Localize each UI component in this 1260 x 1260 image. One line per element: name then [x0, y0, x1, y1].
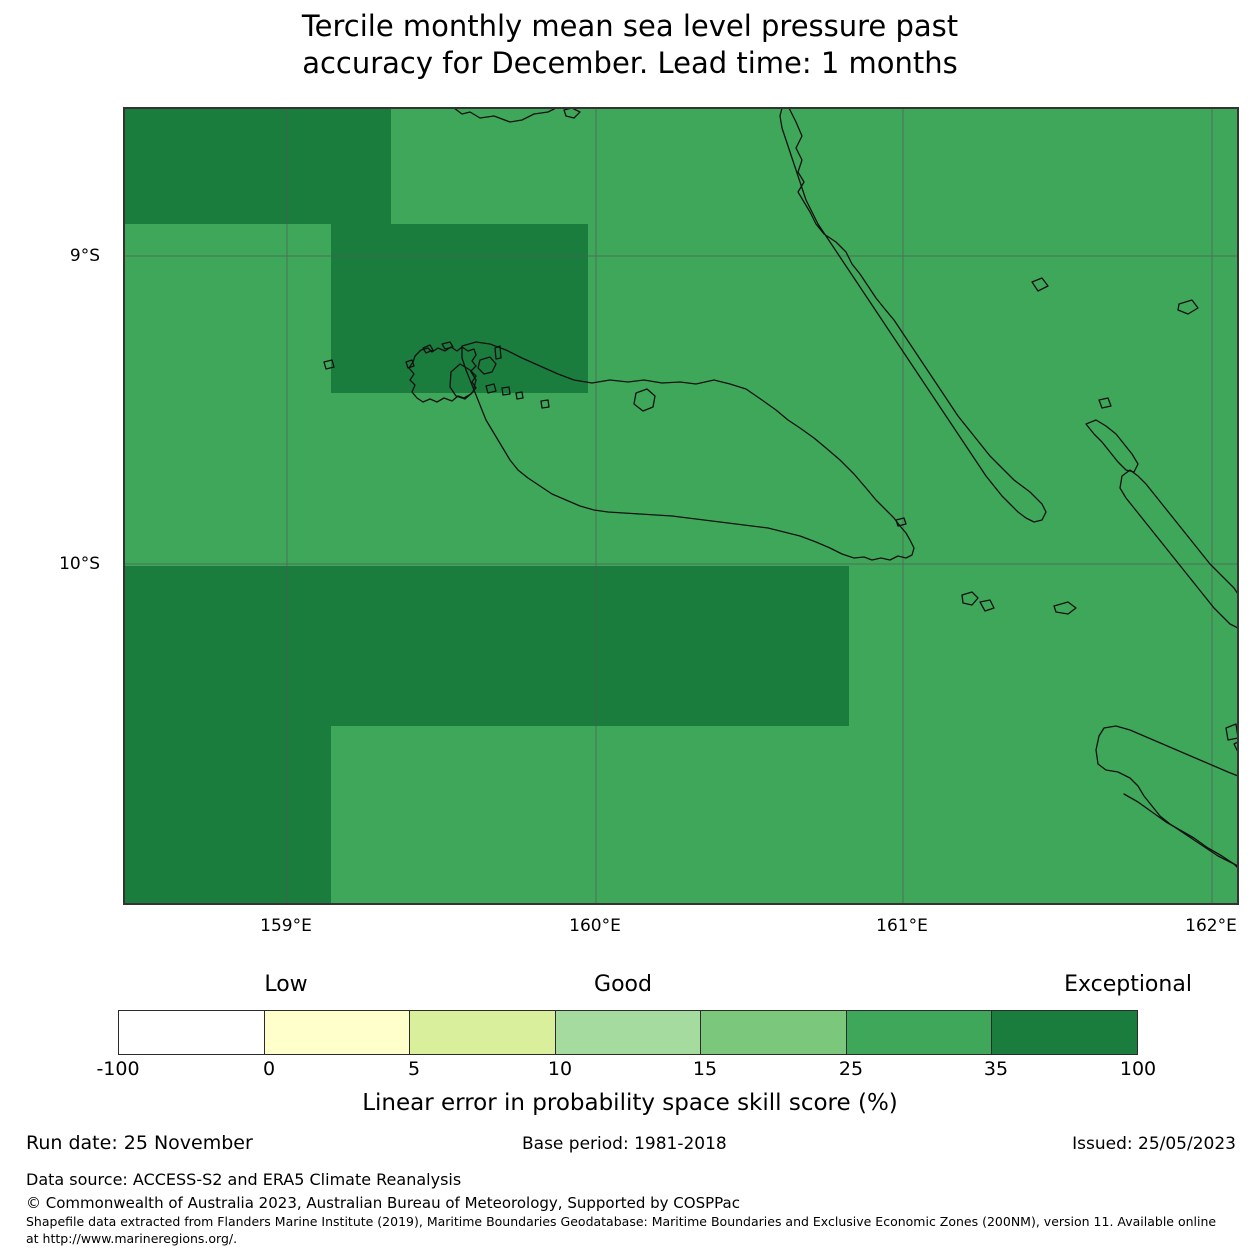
cell-dark-topleft — [124, 108, 331, 224]
colorbar-segment-1 — [265, 1011, 411, 1054]
colorbar-tick-3: 10 — [510, 1058, 610, 1080]
map-plot-area[interactable] — [123, 107, 1239, 905]
colorbar-tick-6: 35 — [946, 1058, 1046, 1080]
colorbar-tick-4: 15 — [655, 1058, 755, 1080]
cell-dark-lower-left — [124, 566, 331, 904]
colorbar-category-low: Low — [176, 972, 396, 997]
ytick-9S: 9°S — [20, 246, 100, 266]
colorbar-tick-1: 0 — [219, 1058, 319, 1080]
xtick-159E: 159°E — [226, 916, 346, 936]
colorbar-segment-2 — [410, 1011, 556, 1054]
cell-dark-central — [331, 224, 588, 393]
colorbar-section: Low Good Exceptional -100 0 5 10 15 25 3… — [0, 960, 1260, 1095]
colorbar-segment-3 — [556, 1011, 702, 1054]
cell-dark-topleft-b — [331, 108, 391, 224]
colorbar-segment-5 — [847, 1011, 993, 1054]
title-line-1: Tercile monthly mean sea level pressure … — [0, 8, 1260, 45]
colorbar-segment-0 — [119, 1011, 265, 1054]
colorbar-tick-0: -100 — [68, 1058, 168, 1080]
ytick-10S: 10°S — [20, 554, 100, 574]
colorbar-category-exceptional: Exceptional — [1018, 972, 1238, 997]
title-line-2: accuracy for December. Lead time: 1 mont… — [0, 45, 1260, 82]
colorbar-segment-6 — [992, 1011, 1137, 1054]
colorbar-category-good: Good — [513, 972, 733, 997]
footer: Run date: 25 November Base period: 1981-… — [0, 1132, 1260, 1158]
page-title: Tercile monthly mean sea level pressure … — [0, 8, 1260, 82]
xtick-162E: 162°E — [1151, 916, 1260, 936]
colorbar[interactable] — [118, 1010, 1138, 1055]
xtick-160E: 160°E — [535, 916, 655, 936]
footer-data-source: Data source: ACCESS-S2 and ERA5 Climate … — [26, 1170, 461, 1189]
footer-run-date: Run date: 25 November — [26, 1132, 253, 1154]
colorbar-axis-label: Linear error in probability space skill … — [0, 1090, 1260, 1116]
footer-shapefile-note: Shapefile data extracted from Flanders M… — [26, 1213, 1226, 1247]
footer-copyright: © Commonwealth of Australia 2023, Austra… — [26, 1194, 740, 1212]
footer-base-period: Base period: 1981-2018 — [522, 1134, 727, 1154]
colorbar-tick-7: 100 — [1088, 1058, 1188, 1080]
colorbar-tick-2: 5 — [364, 1058, 464, 1080]
footer-issued-date: Issued: 25/05/2023 — [1072, 1134, 1236, 1154]
map-canvas — [124, 108, 1238, 904]
xtick-161E: 161°E — [842, 916, 962, 936]
colorbar-segment-4 — [701, 1011, 847, 1054]
colorbar-tick-5: 25 — [801, 1058, 901, 1080]
